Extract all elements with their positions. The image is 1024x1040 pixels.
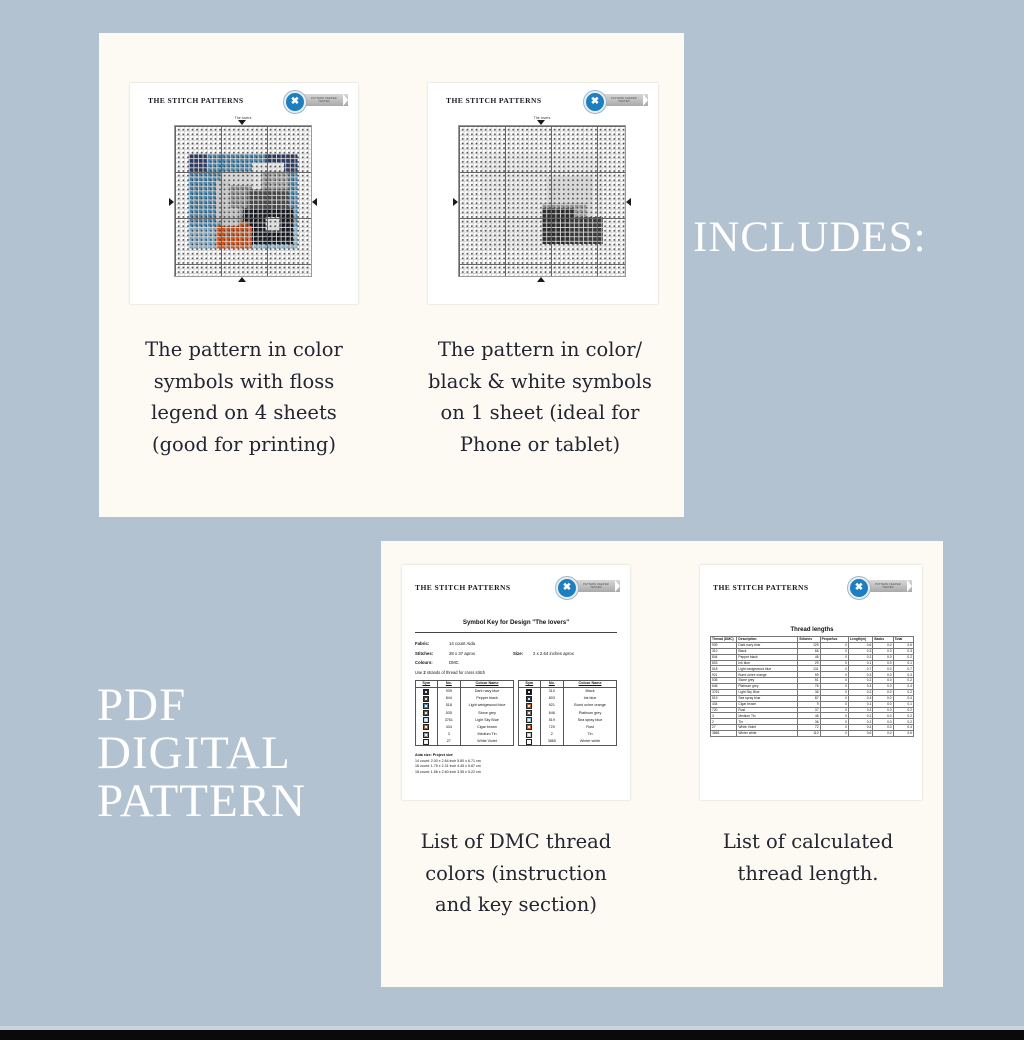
cell-symbol	[519, 687, 541, 695]
chart-center-mark-bottom	[238, 277, 246, 282]
cell-colour-name: Medium Tin	[461, 731, 514, 738]
table-row: 844Pepper black	[416, 695, 514, 702]
table-row: 535Stone grey	[416, 710, 514, 717]
cell-number: 803	[540, 695, 564, 702]
chart-bold-grid	[459, 126, 625, 276]
cell-number: 3761	[437, 717, 461, 724]
cell-number: 921	[540, 702, 564, 709]
pdf-heading-line-3: PATTERN	[97, 778, 306, 826]
col-colour-name: Colour Name	[564, 680, 617, 687]
table-row: 3865Winter white11000.60.00.6	[711, 731, 914, 737]
table-row: 310Black	[519, 687, 617, 695]
table-row: 646Platinum grey	[519, 710, 617, 717]
table-row: 518Light wedgewood blue	[416, 702, 514, 709]
table-row: 3761Light Sky Blue	[416, 717, 514, 724]
cell-symbol	[416, 710, 438, 717]
sheet-brand-title: THE STITCH PATTERNS	[446, 96, 542, 105]
table-row: 803Ink blue	[519, 695, 617, 702]
table-row: 921Burnt ochre orange	[519, 702, 617, 709]
col-colour-name: Colour Name	[461, 680, 514, 687]
badge-x-icon: ✖	[284, 91, 306, 113]
cell-symbol	[519, 710, 541, 717]
fabric-spec-row: Stitches:28 x 37 aproxSize:2 x 2.64 inch…	[415, 651, 617, 656]
cell-symbol	[416, 724, 438, 731]
cell-colour-name: Dark navy blue	[461, 687, 514, 695]
cell-symbol	[519, 717, 541, 724]
badge-ribbon: PATTERN KEEPER TESTED	[300, 94, 348, 106]
badge-line-2: TESTED	[318, 100, 329, 103]
badge-x-icon: ✖	[848, 577, 870, 599]
cell-colour-name: Stone grey	[461, 710, 514, 717]
symbol-key-tables: SymNo.Colour Name939Dark navy blue844Pep…	[415, 680, 617, 747]
cell-colour-name: Burnt ochre orange	[564, 702, 617, 709]
col-0: Thread (DMC)	[711, 637, 737, 643]
sheet-bw-symbols: THE STITCH PATTERNS PATTERN KEEPER TESTE…	[428, 83, 658, 304]
cell-number: 535	[437, 710, 461, 717]
color-chart: The lovers	[174, 125, 312, 277]
spec-value-secondary: 2 x 2.64 inches aprox	[533, 651, 597, 656]
aida-size-row: 18 count: 1.56 x 2.60 inch 3.95 x 5.22 c…	[415, 770, 617, 775]
pattern-keeper-badge: PATTERN KEEPER TESTED ✖	[284, 91, 348, 109]
badge-x-icon: ✖	[584, 91, 606, 113]
badge-line-2: TESTED	[590, 586, 601, 589]
cell-symbol	[519, 724, 541, 731]
badge-line-2: TESTED	[882, 586, 893, 589]
cell-pequenos: 0	[820, 731, 848, 737]
cell-number: 720	[540, 724, 564, 731]
symbol-key-body: Symbol Key for Design "The lovers" Fabri…	[415, 605, 617, 775]
divider	[415, 632, 617, 633]
cell-colour-name: Cigar brown	[461, 724, 514, 731]
cell-number: 3865	[540, 738, 564, 746]
spec-label-secondary	[513, 641, 533, 646]
col-no: No.	[540, 680, 564, 687]
cell-colour-name: Sea spray blue	[564, 717, 617, 724]
table-row: 3Medium Tin	[416, 731, 514, 738]
pattern-keeper-badge: PATTERN KEEPER TESTED ✖	[556, 577, 620, 595]
chart-center-mark-bottom	[537, 277, 545, 282]
aida-size-rows: 14 count: 2.00 x 2.64 inch 5.80 x 6.71 c…	[415, 759, 617, 775]
table-row: 2Tin	[519, 731, 617, 738]
cell-colour-name: White Violet	[461, 738, 514, 746]
cell-number: 3	[437, 731, 461, 738]
spec-value-secondary	[533, 641, 597, 646]
table-header-row: SymNo.Colour Name	[519, 680, 617, 687]
badge-ribbon: PATTERN KEEPER TESTED	[864, 580, 912, 592]
aida-header-a: Aida size:	[415, 753, 432, 757]
cell-thread: 3865	[711, 731, 737, 737]
table-row: 27White Violet	[416, 738, 514, 746]
cell-number: 518	[437, 702, 461, 709]
cell-number: 844	[437, 695, 461, 702]
caption-dmc-list: List of DMC thread colors (instruction a…	[404, 826, 628, 921]
cell-symbol	[519, 738, 541, 746]
thread-lengths-body: Thread lengths Thread (DMC)DescriptionSt…	[710, 627, 914, 737]
table-row: 434Cigar brown	[416, 724, 514, 731]
pdf-digital-pattern-heading: PDF DIGITAL PATTERN	[97, 682, 306, 826]
col-sym: Sym	[519, 680, 541, 687]
cell-symbol	[519, 702, 541, 709]
badge-line-2: TESTED	[618, 100, 629, 103]
cell-number: 519	[540, 717, 564, 724]
table-row: 939Dark navy blue	[416, 687, 514, 695]
table-header-row: Thread (DMC)DescriptionStitchesPequeñosL…	[711, 637, 914, 643]
cell-symbol	[416, 731, 438, 738]
cell-symbol	[416, 738, 438, 746]
chart-center-mark-left	[453, 198, 458, 206]
spec-label-secondary	[513, 660, 533, 665]
table-header-row: SymNo.Colour Name	[416, 680, 514, 687]
cell-number: 646	[540, 710, 564, 717]
symbol-key-table-right: SymNo.Colour Name310Black803Ink blue921B…	[518, 680, 617, 747]
chart-center-mark-top	[238, 120, 246, 125]
table-row: 519Sea spray blue	[519, 717, 617, 724]
spec-value: DMC	[449, 660, 513, 665]
cell-number: 310	[540, 687, 564, 695]
cell-total: 0.6	[893, 731, 913, 737]
cell-colour-name: Tin	[564, 731, 617, 738]
pattern-keeper-badge: PATTERN KEEPER TESTED ✖	[584, 91, 648, 109]
cell-colour-name: Ink blue	[564, 695, 617, 702]
badge-ribbon: PATTERN KEEPER TESTED	[600, 94, 648, 106]
caption-bw-symbols: The pattern in color/ black & white symb…	[416, 334, 664, 460]
sheet-color-symbols: THE STITCH PATTERNS PATTERN KEEPER TESTE…	[130, 83, 358, 304]
chart-center-mark-right	[312, 198, 317, 206]
sheet-brand-title: THE STITCH PATTERNS	[415, 583, 511, 592]
fabric-spec-row: Colours:DMC	[415, 660, 617, 665]
col-sym: Sym	[416, 680, 438, 687]
spec-label-secondary: Size:	[513, 651, 533, 656]
strands-note: Use 2 strands of thread for cross stitch	[415, 670, 617, 675]
sheet-brand-title: THE STITCH PATTERNS	[713, 583, 809, 592]
cell-symbol	[416, 695, 438, 702]
thread-lengths-heading: Thread lengths	[710, 627, 914, 633]
cell-symbol	[416, 717, 438, 724]
sheet-symbol-key: THE STITCH PATTERNS PATTERN KEEPER TESTE…	[402, 565, 630, 800]
fabric-spec-row: Fabric:14 count Aida	[415, 641, 617, 646]
chart-center-mark-top	[537, 120, 545, 125]
includes-heading: INCLUDES:	[693, 216, 927, 260]
cell-colour-name: Light Sky Blue	[461, 717, 514, 724]
spec-label: Stitches:	[415, 651, 449, 656]
aida-size-footer: Aida size: Project size 14 count: 2.00 x…	[415, 753, 617, 775]
strands-note-post: strands of thread for cross stitch	[426, 670, 485, 675]
cell-symbol	[416, 687, 438, 695]
chart-grid	[174, 125, 312, 277]
spec-value-secondary	[533, 660, 597, 665]
aida-header-b: Project size	[433, 753, 453, 757]
cell-colour-name: Platinum grey	[564, 710, 617, 717]
cell-colour-name: Winter white	[564, 738, 617, 746]
chart-center-mark-right	[626, 198, 631, 206]
spec-label: Fabric:	[415, 641, 449, 646]
cell-symbol	[416, 702, 438, 709]
cell-description: Winter white	[737, 731, 798, 737]
chart-grid	[458, 125, 626, 277]
cell-length: 0.6	[849, 731, 873, 737]
table-row: 3865Winter white	[519, 738, 617, 746]
cell-number: 27	[437, 738, 461, 746]
col-no: No.	[437, 680, 461, 687]
cell-colour-name: Light wedgewood blue	[461, 702, 514, 709]
thread-lengths-table: Thread (DMC)DescriptionStitchesPequeñosL…	[710, 636, 914, 737]
spec-value: 14 count Aida	[449, 641, 513, 646]
poster-canvas: INCLUDES: PDF DIGITAL PATTERN THE STITCH…	[0, 0, 1024, 1040]
pdf-heading-line-1: PDF	[97, 682, 306, 730]
fabric-spec-list: Fabric:14 count AidaStitches:28 x 37 apr…	[415, 641, 617, 665]
badge-x-icon: ✖	[556, 577, 578, 599]
cell-symbol	[519, 731, 541, 738]
symbol-key-table-left: SymNo.Colour Name939Dark navy blue844Pep…	[415, 680, 514, 747]
cell-number: 434	[437, 724, 461, 731]
cell-number: 2	[540, 731, 564, 738]
cell-stitches: 110	[798, 731, 820, 737]
pdf-heading-line-2: DIGITAL	[97, 730, 306, 778]
cell-colour-name: Black	[564, 687, 617, 695]
caption-thread-length: List of calculated thread length.	[688, 826, 928, 889]
caption-color-symbols: The pattern in color symbols with floss …	[128, 334, 360, 460]
cell-colour-name: Rust	[564, 724, 617, 731]
pattern-keeper-badge: PATTERN KEEPER TESTED ✖	[848, 577, 912, 595]
sheet-brand-title: THE STITCH PATTERNS	[148, 96, 244, 105]
bottom-black-strip	[0, 1030, 1024, 1040]
chart-bold-grid	[175, 126, 311, 276]
cell-colour-name: Pepper black	[461, 695, 514, 702]
table-row: 720Rust	[519, 724, 617, 731]
cell-number: 939	[437, 687, 461, 695]
spec-label: Colours:	[415, 660, 449, 665]
cell-symbol	[519, 695, 541, 702]
bw-chart: The lovers	[458, 125, 626, 277]
spec-value: 28 x 37 aprox	[449, 651, 513, 656]
badge-ribbon: PATTERN KEEPER TESTED	[572, 580, 620, 592]
cell-backs: 0.0	[873, 731, 893, 737]
symbol-key-heading: Symbol Key for Design "The lovers"	[415, 619, 617, 626]
sheet-thread-lengths: THE STITCH PATTERNS PATTERN KEEPER TESTE…	[700, 565, 922, 800]
chart-center-mark-left	[169, 198, 174, 206]
